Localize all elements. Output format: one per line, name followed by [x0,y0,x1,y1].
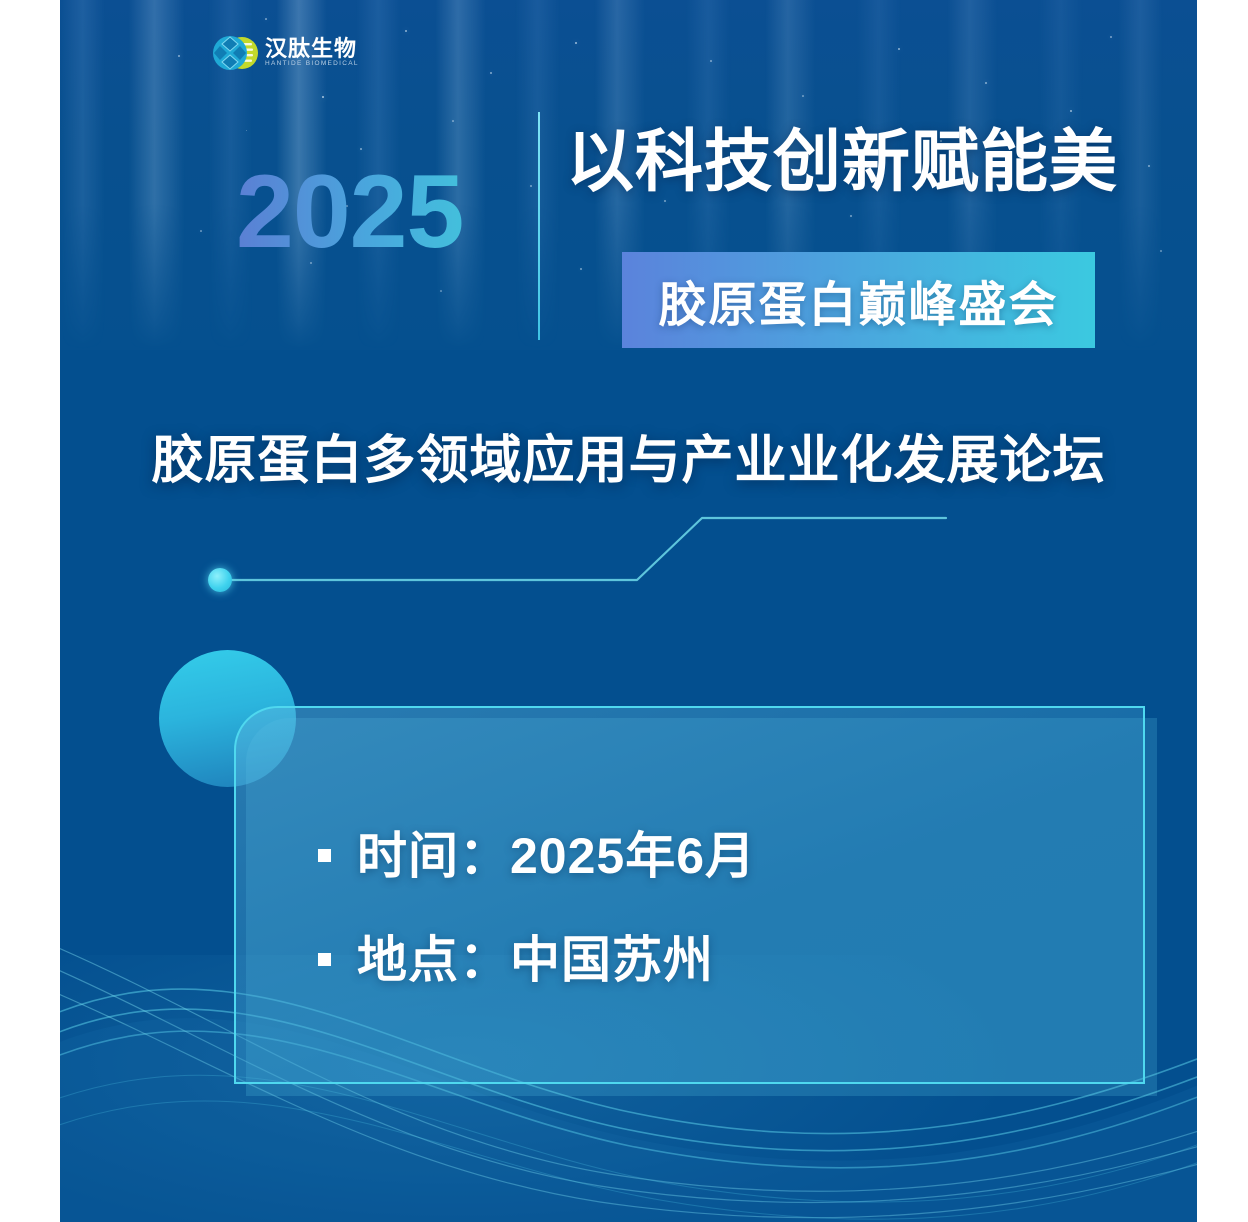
hero-headline: 以科技创新赋能美 [566,128,1186,196]
hexagon-sphere-logo-icon [212,33,258,73]
info-list: 时间：2025年6月 地点：中国苏州 [318,800,1148,1008]
info-time: 时间：2025年6月 [357,816,756,888]
brand-logo: 汉肽生物 HANTIDE BIOMEDICAL [212,30,384,76]
info-location: 地点：中国苏州 [357,920,714,992]
list-item: 地点：中国苏州 [318,904,1148,1008]
event-year: 2025 [236,160,526,264]
hero-subtitle-bar: 胶原蛋白巅峰盛会 [622,252,1095,348]
cyan-node-dot [208,568,232,592]
brand-logo-text: 汉肽生物 HANTIDE BIOMEDICAL [265,38,359,68]
vertical-divider [538,112,540,340]
step-line-decoration [190,495,980,610]
brand-name-cn: 汉肽生物 [265,38,359,60]
poster-canvas: 汉肽生物 HANTIDE BIOMEDICAL 2025 以科技创新赋能美 胶原… [60,0,1197,1222]
brand-name-en: HANTIDE BIOMEDICAL [265,61,359,68]
forum-title: 胶原蛋白多领域应用与产业业化发展论坛 [60,418,1197,493]
list-item: 时间：2025年6月 [318,800,1148,904]
hero-subtitle-text: 胶原蛋白巅峰盛会 [658,265,1058,335]
bullet-square-icon [318,849,331,862]
bullet-square-icon [318,953,331,966]
